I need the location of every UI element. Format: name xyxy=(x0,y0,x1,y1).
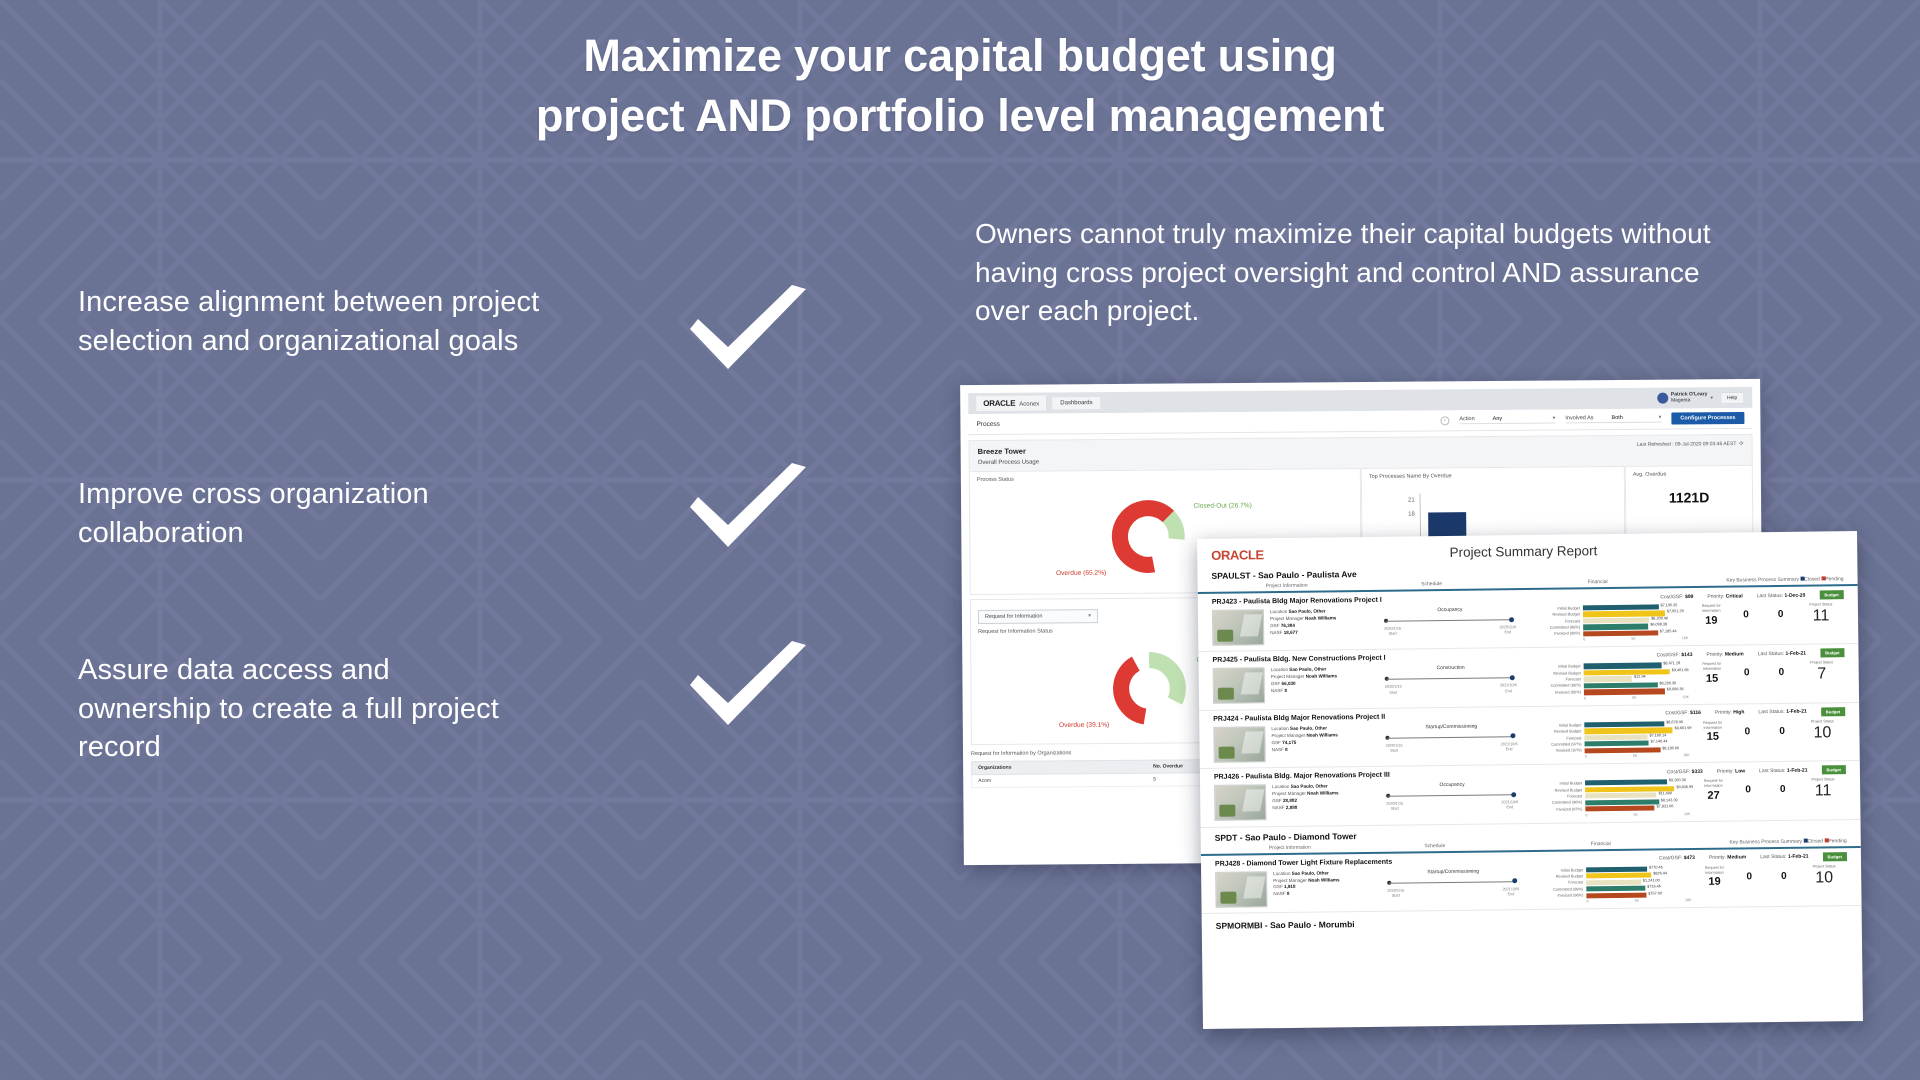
supporting-paragraph: Owners cannot truly maximize their capit… xyxy=(975,215,1745,331)
project-title: PRJ424 - Paulista Bldg Major Renovations… xyxy=(1213,714,1385,723)
portfolio-code: SPMORMBI xyxy=(1216,920,1263,931)
slide-canvas: Maximize your capital budget using proje… xyxy=(0,0,1920,1080)
financial-bar: $1,241.00 xyxy=(1586,879,1641,885)
project-thumbnail xyxy=(1215,871,1267,908)
kpi-rfi: Request for Information 19 xyxy=(1697,865,1732,888)
financial-bar-value: $7,185.44 xyxy=(1660,629,1677,633)
schedule-block: Occupancy 2020/1/15Start 2021/10/6End xyxy=(1382,781,1522,812)
kpi-status-label: Project Status xyxy=(1799,719,1845,724)
portfolio-name: Sao Paulo - Morumbi xyxy=(1270,919,1355,930)
donut-label-closed-out: Closed-Out (26.7%) xyxy=(1193,502,1251,509)
portfolio-code: SPDT xyxy=(1215,832,1238,842)
financial-scale: 05K10K xyxy=(1584,695,1689,700)
kpi-status-label: Project Status xyxy=(1798,602,1844,607)
slide-title: Maximize your capital budget using proje… xyxy=(0,26,1920,147)
oracle-logo: ORACLE xyxy=(1211,547,1264,563)
chevron-down-icon: ▾ xyxy=(1710,395,1713,401)
oracle-logo: ORACLE Aconex xyxy=(976,395,1047,411)
kpi-tertiary-value: 0 xyxy=(1765,784,1800,795)
financial-bar: $8,143.39 xyxy=(1585,799,1659,805)
financial-scale: 05K10K xyxy=(1583,636,1688,641)
priority: Priority: High xyxy=(1715,710,1745,716)
kpi-tertiary-value: 0 xyxy=(1763,609,1798,620)
svg-text:21: 21 xyxy=(1408,498,1415,504)
filter-involved-value: Both xyxy=(1611,415,1622,421)
schedule-phase: Occupancy xyxy=(1380,606,1520,614)
financial-bar: $7,100.14 xyxy=(1584,734,1647,740)
financial-bar: $7,195.35 xyxy=(1583,604,1659,610)
financial-scale: 05K10K xyxy=(1586,898,1691,903)
budget-badge: Budget xyxy=(1819,590,1844,599)
avg-overdue-value: 1121D xyxy=(1633,489,1745,506)
start-date: 2020/1/15 xyxy=(1386,743,1403,747)
col-schedule: Schedule xyxy=(1362,580,1502,588)
budget-badge: Budget xyxy=(1821,707,1846,716)
kpi-secondary: 0 xyxy=(1729,662,1764,679)
nasf: NASF 18,677 xyxy=(1270,629,1374,637)
financial-bar-value: $11,499 xyxy=(1659,792,1673,796)
financial-bar: $757.00 xyxy=(1586,892,1646,898)
financial-bar: $8,200.36 xyxy=(1584,682,1658,688)
slide-title-line-2: project AND portfolio level management xyxy=(0,86,1920,146)
financial-block: Initial BudgetRevised BudgetForecastComm… xyxy=(1527,662,1689,700)
financial-label: Invoiced (95%) xyxy=(1527,689,1581,696)
project-title: PRJ426 - Paulista Bldg. Major Renovation… xyxy=(1214,772,1390,781)
start-label: Start xyxy=(1392,893,1400,897)
kpi-tertiary: 0 xyxy=(1763,603,1798,620)
kpi-rfi-label: Request for Information xyxy=(1695,662,1730,672)
financial-bar: $7,185.44 xyxy=(1583,630,1658,636)
kpi-project-status: Project Status 10 xyxy=(1799,719,1845,743)
checkmark-icon-3 xyxy=(684,641,812,737)
kpi-rfi: Request for Information 19 xyxy=(1694,604,1729,627)
rfi-process-select-value: Request for Information xyxy=(985,614,1043,620)
org-cell-name: Acom xyxy=(978,777,1153,784)
kpi-block: Request for Information 15 0 0 Project S… xyxy=(1695,661,1845,686)
project-information: Location Sao Paulo, Other Project Manage… xyxy=(1271,666,1375,695)
legend-pending: Pending xyxy=(1825,576,1843,582)
start-label: Start xyxy=(1390,749,1398,753)
col-kpi: Key Business Process Summary Closed Pend… xyxy=(1694,576,1844,584)
col-kpi: Key Business Process Summary Closed Pend… xyxy=(1697,838,1847,846)
donut-label-overdue: Overdue (39.1%) xyxy=(1059,722,1109,729)
financial-bar: $9,009.36 xyxy=(1584,689,1665,695)
kpi-status-value: 11 xyxy=(1800,782,1846,801)
user-menu[interactable]: Patrick O'Leary Magenta ▾ xyxy=(1657,392,1713,404)
project-information: Location Sao Paulo, Other Project Manage… xyxy=(1271,725,1375,754)
financial-bar-value: $6,200.46 xyxy=(1651,616,1668,620)
kpi-secondary-value: 0 xyxy=(1729,609,1764,620)
gantt-end-dot xyxy=(1510,734,1515,739)
financial-label: Invoiced (97%) xyxy=(1528,806,1582,813)
end-label: End xyxy=(1505,689,1512,693)
kpi-tertiary: 0 xyxy=(1765,778,1800,795)
schedule-dates: 2020/1/15Start 2021/10/6End xyxy=(1386,742,1518,754)
financial-bar-value: $12.94 xyxy=(1634,675,1646,679)
cost-gsf: Cost/GSF: $333 xyxy=(1667,769,1703,775)
financial-bar: $826.44 xyxy=(1586,873,1651,879)
filter-action-value: Any xyxy=(1493,416,1503,422)
financial-block: Initial BudgetRevised BudgetForecastComm… xyxy=(1527,721,1689,759)
financial-bar-value: $7,195.35 xyxy=(1660,603,1677,607)
end-label: End xyxy=(1508,892,1515,896)
kpi-status-value: 10 xyxy=(1799,724,1845,743)
report-project-row[interactable]: PRJ424 - Paulista Bldg Major Renovations… xyxy=(1199,703,1860,769)
gantt-bar xyxy=(1385,674,1517,685)
gantt-bar xyxy=(1384,615,1516,626)
oracle-wordmark: ORACLE xyxy=(983,399,1015,408)
kpi-secondary-value: 0 xyxy=(1732,871,1767,882)
financial-bar: $770.46 xyxy=(1586,866,1647,872)
project-summary-report-screenshot: ORACLE Project Summary Report SPAULST - … xyxy=(1197,531,1863,1029)
kpi-secondary: 0 xyxy=(1732,865,1767,882)
project-thumbnail xyxy=(1214,784,1266,821)
donut-label-overdue: Overdue (65.2%) xyxy=(1056,570,1106,577)
user-identity: Patrick O'Leary Magenta xyxy=(1671,392,1708,404)
kpi-rfi-label: Request for Information xyxy=(1696,779,1731,789)
filter-action[interactable]: Action Any ▾ xyxy=(1459,415,1555,424)
start-label: Start xyxy=(1389,690,1397,694)
start-date: 2020/1/15 xyxy=(1386,802,1403,806)
financial-bar-value: $8,471.28 xyxy=(1663,662,1680,666)
financial-bar: $9,401.66 xyxy=(1584,669,1670,675)
card-title: Avg. Overdue xyxy=(1633,471,1745,478)
financial-block: Initial BudgetRevised BudgetForecastComm… xyxy=(1528,779,1690,817)
top-bar-right-group: Patrick O'Leary Magenta ▾ Help xyxy=(1657,391,1744,404)
project-thumbnail xyxy=(1212,609,1264,646)
financial-bar: $7,146.44 xyxy=(1585,741,1649,747)
financial-bar: $6,098.38 xyxy=(1583,624,1648,630)
financial-bar-value: $9,009.36 xyxy=(1667,687,1684,691)
financial-bar-value: $1,241.00 xyxy=(1643,878,1660,882)
financial-bar-value: $770.46 xyxy=(1649,865,1663,869)
financial-scale: 05K10K xyxy=(1585,753,1690,758)
portfolio-name: Sao Paulo - Diamond Tower xyxy=(1245,831,1357,842)
kpi-tertiary: 0 xyxy=(1764,661,1799,678)
project-title: PRJ428 - Diamond Tower Light Fixture Rep… xyxy=(1215,858,1392,867)
financial-bar: $9,200.36 xyxy=(1585,780,1667,786)
priority: Priority: Low xyxy=(1717,768,1745,774)
checkmark-icon-2 xyxy=(684,463,812,559)
col-financial: Financial xyxy=(1502,578,1694,586)
financial-bar-value: $8,200.36 xyxy=(1659,681,1676,685)
col-project-information: Project Information xyxy=(1212,582,1362,590)
financial-label: Invoiced (96%) xyxy=(1529,892,1583,899)
financial-bar-value: $757.00 xyxy=(1648,891,1662,895)
portfolio-name: Sao Paulo - Paulista Ave xyxy=(1258,569,1357,580)
kpi-project-status: Project Status 10 xyxy=(1801,864,1847,888)
kpi-rfi-value: 19 xyxy=(1697,876,1732,888)
benefit-item-1: Increase alignment between project selec… xyxy=(78,283,558,360)
schedule-block: Construction 2020/1/15Start 2021/10/6End xyxy=(1381,665,1521,696)
col-schedule: Schedule xyxy=(1365,842,1505,850)
kpi-status-value: 7 xyxy=(1799,666,1845,685)
end-date: 2021/10/6 xyxy=(1502,887,1519,891)
dashboard-section-subtitle: Overall Process Usage xyxy=(978,454,1744,466)
help-button[interactable]: Help xyxy=(1720,391,1744,403)
financial-bar-value: $9,836.99 xyxy=(1676,785,1693,789)
last-status: Last Status: 1-Feb-21 xyxy=(1760,854,1808,861)
end-label: End xyxy=(1506,747,1513,751)
financial-bar: $8,471.28 xyxy=(1584,663,1662,669)
kpi-tertiary-value: 0 xyxy=(1766,870,1801,881)
financial-bar-value: $826.44 xyxy=(1653,872,1667,876)
start-label: Start xyxy=(1389,632,1397,636)
last-status: Last Status: 1-Dec-20 xyxy=(1757,592,1806,599)
nasf: NASF 8 xyxy=(1272,745,1376,753)
schedule-phase: Startup/Commissioning xyxy=(1381,723,1521,731)
filter-involved-label: Involved As xyxy=(1565,415,1593,421)
col-kpi-label: Key Business Process Summary xyxy=(1726,577,1799,584)
portfolio-code: SPAULST xyxy=(1211,570,1250,580)
schedule-block: Startup/Commissioning 2020/1/15Start 202… xyxy=(1381,723,1521,754)
end-date: 2021/10/6 xyxy=(1501,800,1518,804)
schedule-dates: 2020/1/15Start 2021/10/6End xyxy=(1387,887,1519,899)
kpi-rfi-value: 27 xyxy=(1696,789,1731,801)
refresh-icon[interactable]: ⟳ xyxy=(1739,441,1743,447)
kpi-rfi-value: 15 xyxy=(1695,731,1730,743)
legend-closed: Closed xyxy=(1804,576,1820,582)
schedule-block: Occupancy 2020/1/15Start 2020/11/6End xyxy=(1380,606,1520,637)
financial-bar-value: $7,100.14 xyxy=(1649,733,1666,737)
schedule-dates: 2020/1/15Start 2021/10/6End xyxy=(1386,800,1518,812)
kpi-rfi: Request for Information 15 xyxy=(1695,662,1730,685)
kpi-tertiary: 0 xyxy=(1765,720,1800,737)
avatar xyxy=(1657,393,1668,404)
financial-bar-value: $9,200.36 xyxy=(1669,778,1686,782)
last-status: Last Status: 1-Feb-21 xyxy=(1758,651,1806,658)
financial-bar: $6,200.46 xyxy=(1583,618,1649,624)
financial-bar-value: $9,601.99 xyxy=(1675,726,1692,730)
cost-gsf: Cost/GSF: $473 xyxy=(1659,855,1695,861)
last-refreshed-group: Last Refreshed : 09-Jul-2020 09:03:46 AE… xyxy=(1637,441,1744,448)
financial-bar-value: $6,098.38 xyxy=(1650,623,1667,627)
col-financial: Financial xyxy=(1505,840,1697,848)
org-col-organizations: Organizations xyxy=(978,764,1153,771)
schedule-phase: Occupancy xyxy=(1382,781,1522,789)
nasf: NASF 8 xyxy=(1273,890,1377,898)
collapse-icon[interactable]: ‹ xyxy=(1440,416,1449,425)
rfi-process-select[interactable]: Request for Information ▾ xyxy=(978,609,1098,624)
kpi-tertiary-value: 0 xyxy=(1765,725,1800,736)
cost-gsf: Cost/GSF: $116 xyxy=(1665,710,1701,716)
schedule-dates: 2020/1/15Start 2021/10/6End xyxy=(1385,684,1517,696)
financial-bar-value: $7,951.29 xyxy=(1667,610,1684,614)
kpi-secondary-value: 0 xyxy=(1731,784,1766,795)
gantt-end-dot xyxy=(1512,878,1517,883)
priority: Priority: Critical xyxy=(1707,593,1742,599)
kpi-block: Request for Information 15 0 0 Project S… xyxy=(1695,719,1845,744)
financial-scale: 05K10K xyxy=(1585,812,1690,817)
financial-bar-value: $8,678.46 xyxy=(1666,720,1683,724)
nasf: NASF 2,888 xyxy=(1272,804,1376,812)
financial-bar-value: $8,180.00 xyxy=(1662,746,1679,750)
kpi-status-value: 10 xyxy=(1801,869,1847,888)
financial-bar: $8,678.46 xyxy=(1584,721,1664,727)
financial-label: Invoiced (97%) xyxy=(1528,748,1582,755)
last-status: Last Status: 1-Feb-21 xyxy=(1759,767,1807,774)
legend-closed: Closed xyxy=(1807,838,1823,844)
financial-bar: $7,831.66 xyxy=(1585,806,1654,812)
schedule-block: Startup/Commissioning 2020/1/15Start 202… xyxy=(1383,868,1523,899)
financial-block: Initial BudgetRevised BudgetForecastComm… xyxy=(1526,604,1688,642)
filter-action-label: Action xyxy=(1459,416,1474,422)
report-project-row[interactable]: PRJ423 - Paulista Bldg Major Renovations… xyxy=(1198,586,1859,652)
schedule-phase: Startup/Commissioning xyxy=(1383,868,1523,876)
project-thumbnail xyxy=(1213,668,1265,705)
kpi-rfi-label: Request for Information xyxy=(1695,720,1730,730)
start-date: 2020/1/15 xyxy=(1384,627,1401,631)
start-label: Start xyxy=(1391,807,1399,811)
dashboard-project-name: Breeze Tower xyxy=(978,441,1744,456)
kpi-secondary: 0 xyxy=(1730,720,1765,737)
filter-involved-as[interactable]: Involved As Both ▾ xyxy=(1565,415,1661,424)
financial-bar-value: $8,143.39 xyxy=(1661,798,1678,802)
kpi-rfi-value: 15 xyxy=(1695,673,1730,685)
project-information: Location Sao Paulo, Other Project Manage… xyxy=(1273,870,1377,899)
cost-gsf: Cost/GSF: $143 xyxy=(1657,652,1693,658)
project-information: Location Sao Paulo, Other Project Manage… xyxy=(1270,608,1374,637)
last-refreshed-text: Last Refreshed : 09-Jul-2020 09:03:46 AE… xyxy=(1637,441,1737,448)
kpi-status-value: 11 xyxy=(1798,607,1844,626)
budget-badge: Budget xyxy=(1821,765,1846,774)
kpi-project-status: Project Status 7 xyxy=(1799,661,1845,685)
kpi-secondary: 0 xyxy=(1731,778,1766,795)
financial-bar: $12.94 xyxy=(1584,676,1632,682)
kpi-status-label: Project Status xyxy=(1800,777,1846,782)
end-label: End xyxy=(1504,630,1511,634)
gantt-bar xyxy=(1386,790,1518,801)
nasf: NASF 8 xyxy=(1271,687,1375,695)
end-date: 2020/11/6 xyxy=(1499,625,1516,629)
gantt-end-dot xyxy=(1511,792,1516,797)
start-date: 2020/1/15 xyxy=(1385,685,1402,689)
kpi-rfi-label: Request for Information xyxy=(1697,865,1732,875)
nav-tab-dashboards[interactable]: Dashboards xyxy=(1051,396,1101,409)
kpi-project-status: Project Status 11 xyxy=(1798,602,1844,626)
financial-bar-value: $716.46 xyxy=(1647,885,1661,889)
budget-badge: Budget xyxy=(1820,649,1845,658)
financial-bar-value: $7,146.44 xyxy=(1651,740,1668,744)
priority: Priority: Medium xyxy=(1706,651,1743,657)
chevron-down-icon: ▾ xyxy=(1088,613,1091,619)
project-thumbnail xyxy=(1213,726,1265,763)
kpi-tertiary-value: 0 xyxy=(1764,667,1799,678)
legend-pending: Pending xyxy=(1828,838,1846,844)
breadcrumb: Process xyxy=(976,420,1000,427)
kpi-status-label: Project Status xyxy=(1799,661,1845,666)
kpi-block: Request for Information 27 0 0 Project S… xyxy=(1696,777,1846,802)
project-title: PRJ425 - Paulista Bldg. New Construction… xyxy=(1212,655,1385,664)
svg-text:18: 18 xyxy=(1408,512,1415,518)
priority: Priority: Medium xyxy=(1709,855,1746,861)
financial-bar: $8,180.00 xyxy=(1585,747,1661,753)
financial-bar: $11,499 xyxy=(1585,793,1656,799)
kpi-rfi: Request for Information 15 xyxy=(1695,720,1730,743)
financial-bar: $716.46 xyxy=(1586,886,1645,892)
portfolio-heading: SPMORMBI - Sao Paulo - Morumbi xyxy=(1202,911,1862,931)
end-date: 2021/10/6 xyxy=(1501,742,1518,746)
gantt-bar xyxy=(1387,877,1519,888)
gantt-end-dot xyxy=(1510,675,1515,680)
cost-gsf: Cost/GSF: $99 xyxy=(1660,593,1693,599)
last-status: Last Status: 1-Feb-21 xyxy=(1758,709,1806,716)
gantt-end-dot xyxy=(1509,617,1514,622)
col-project-information: Project Information xyxy=(1215,844,1365,852)
schedule-phase: Construction xyxy=(1381,665,1521,673)
kpi-secondary-value: 0 xyxy=(1729,667,1764,678)
financial-bar-value: $7,831.66 xyxy=(1657,804,1674,808)
product-name: Aconex xyxy=(1019,402,1039,408)
schedule-dates: 2020/1/15Start 2020/11/6End xyxy=(1384,625,1516,637)
gantt-bar xyxy=(1385,732,1517,743)
kpi-secondary: 0 xyxy=(1729,603,1764,620)
checkmark-icon-1 xyxy=(684,285,812,381)
financial-label: Invoiced (99%) xyxy=(1526,631,1580,638)
kpi-block: Request for Information 19 0 0 Project S… xyxy=(1697,864,1847,889)
slide-title-line-1: Maximize your capital budget using xyxy=(0,26,1920,86)
user-org: Magenta xyxy=(1671,397,1691,403)
report-project-row[interactable]: PRJ425 - Paulista Bldg. New Construction… xyxy=(1198,644,1859,710)
financial-block: Initial BudgetRevised BudgetForecastComm… xyxy=(1529,866,1691,904)
kpi-rfi-value: 19 xyxy=(1694,614,1729,626)
benefit-item-3: Assure data access and ownership to crea… xyxy=(78,651,508,767)
kpi-rfi: Request for Information 27 xyxy=(1696,779,1731,802)
report-title: Project Summary Report xyxy=(1264,541,1784,562)
start-date: 2020/1/15 xyxy=(1387,888,1404,892)
chevron-down-icon: ▾ xyxy=(1659,415,1662,421)
col-kpi-label: Key Business Process Summary xyxy=(1729,838,1802,845)
report-project-row[interactable]: PRJ426 - Paulista Bldg. Major Renovation… xyxy=(1200,761,1861,827)
kpi-tertiary: 0 xyxy=(1766,864,1801,881)
budget-badge: Budget xyxy=(1822,852,1847,861)
kpi-status-label: Project Status xyxy=(1801,864,1847,869)
project-title: PRJ423 - Paulista Bldg Major Renovations… xyxy=(1212,597,1382,606)
configure-processes-button[interactable]: Configure Processes xyxy=(1671,412,1744,425)
project-information: Location Sao Paulo, Other Project Manage… xyxy=(1272,783,1376,812)
kpi-rfi-label: Request for Information xyxy=(1694,604,1729,614)
kpi-block: Request for Information 19 0 0 Project S… xyxy=(1694,602,1844,627)
kpi-project-status: Project Status 11 xyxy=(1800,777,1846,801)
financial-bar-value: $9,401.66 xyxy=(1672,668,1689,672)
report-project-row[interactable]: PRJ428 - Diamond Tower Light Fixture Rep… xyxy=(1201,848,1862,914)
benefit-item-2: Improve cross organization collaboration xyxy=(78,475,548,552)
chevron-down-icon: ▾ xyxy=(1553,415,1556,421)
end-date: 2021/10/6 xyxy=(1500,684,1517,688)
end-label: End xyxy=(1506,806,1513,810)
kpi-secondary-value: 0 xyxy=(1730,726,1765,737)
